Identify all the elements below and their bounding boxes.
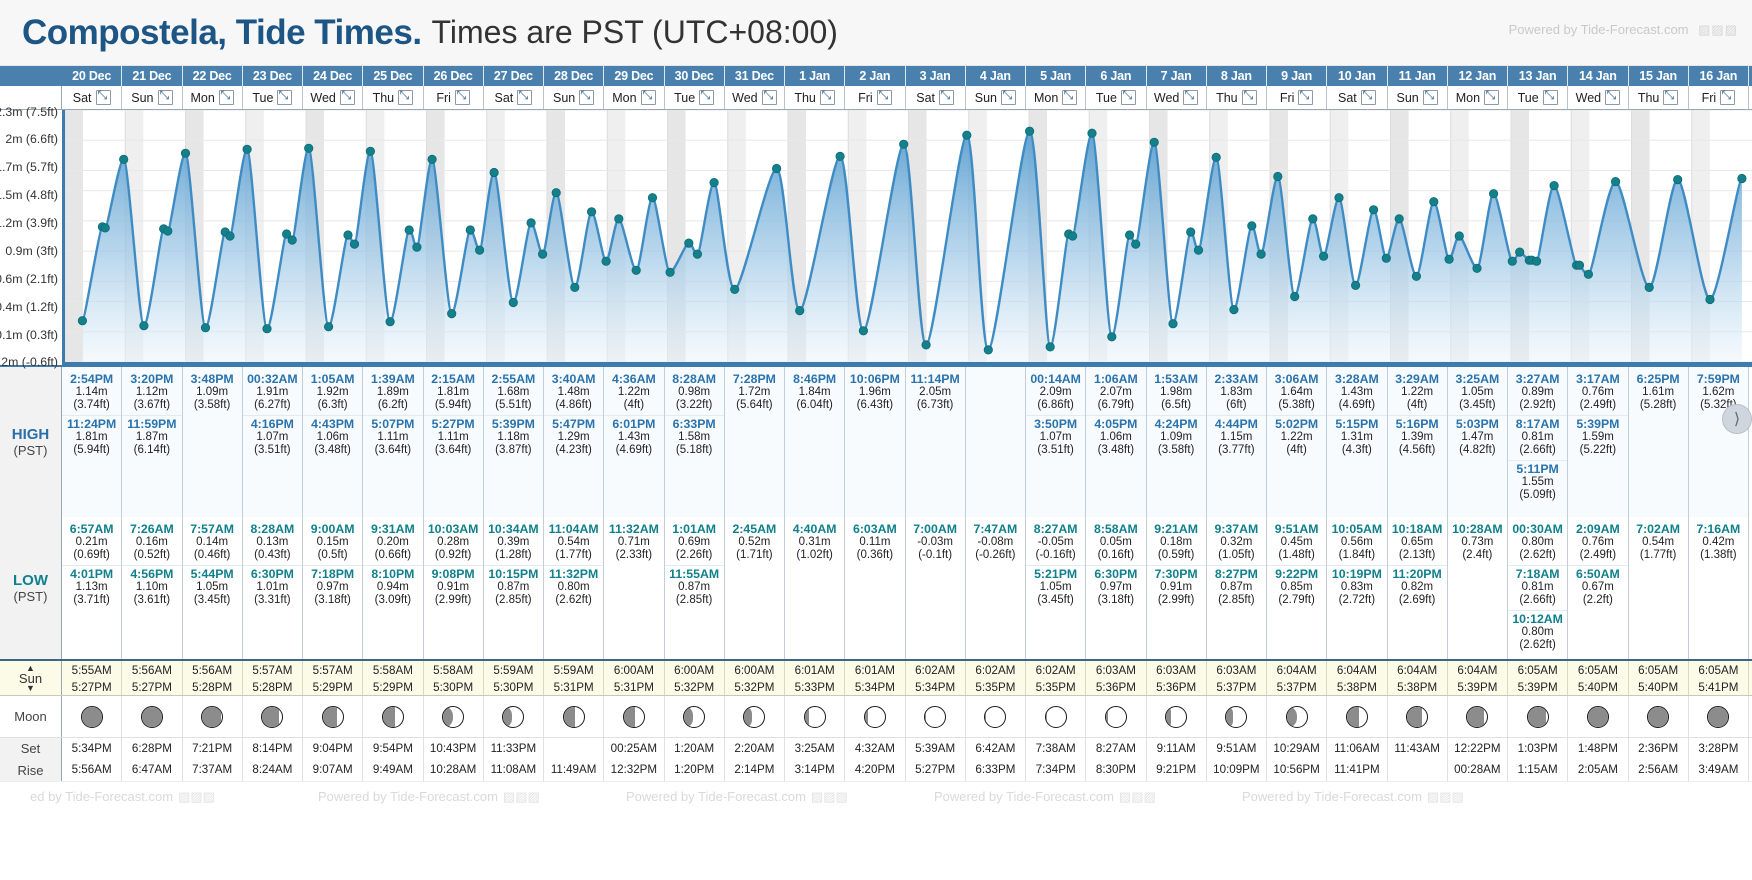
expand-icon[interactable]	[1720, 90, 1735, 105]
moonset-cell: 3:28PM	[1689, 738, 1749, 759]
expand-icon[interactable]	[277, 90, 292, 105]
tide-time: 2:45AM	[725, 522, 784, 536]
sunset-time: 5:36PM	[1147, 679, 1206, 695]
moonset-cell: 9:11AM	[1147, 738, 1207, 759]
tide-time: 11:59PM	[122, 417, 181, 431]
moon-phase-icon	[261, 706, 283, 728]
tide-extremum-marker	[164, 227, 172, 235]
high-tide-cell[interactable]: 3:17AM0.76m(2.49ft)5:39PM1.59m(5.22ft)	[1568, 367, 1628, 517]
tide-height-ft: (2.26ft)	[665, 549, 724, 562]
sunrise-time: 6:00AM	[725, 662, 784, 679]
tide-time: 6:01PM	[604, 417, 663, 431]
tide-height-ft: (5.94ft)	[62, 444, 121, 457]
weekday-header-cell[interactable]: Sun	[122, 86, 182, 109]
weekday-label: Mon	[1034, 86, 1058, 109]
tide-time: 5:21PM	[1026, 567, 1085, 581]
date-header-cell[interactable]: 1 Jan	[785, 66, 845, 86]
date-header-cell[interactable]: 28 Dec	[544, 66, 604, 86]
tide-time: 11:20PM	[1388, 567, 1447, 581]
expand-icon[interactable]	[398, 90, 413, 105]
low-tide-cell[interactable]: 2:45AM0.52m(1.71ft)	[725, 517, 785, 659]
weekday-header-cell[interactable]: Mon	[1448, 86, 1508, 109]
high-tide-cell[interactable]: 7:59PM1.62m(5.32ft)	[1689, 367, 1749, 517]
tide-extremum-marker	[772, 164, 780, 172]
high-tide-cell[interactable]: 3:48PM1.09m(3.58ft)	[183, 367, 243, 517]
date-header-cell[interactable]: 16 Jan	[1689, 66, 1749, 86]
tide-extremum-marker	[571, 283, 579, 291]
tide-height-ft: (2.62ft)	[1508, 549, 1567, 562]
tide-height-m: 0.52m	[725, 536, 784, 549]
high-tide-cell[interactable]: 3:27AM0.89m(2.92ft)8:17AM0.81m(2.66ft)5:…	[1508, 367, 1568, 517]
low-tide-cell[interactable]: 9:00AM0.15m(0.5ft)7:18PM0.97m(3.18ft)	[303, 517, 363, 659]
tide-height-ft: (4.23ft)	[544, 444, 603, 457]
expand-icon[interactable]	[1001, 90, 1016, 105]
high-tide-cell[interactable]: 3:20PM1.12m(3.67ft)11:59PM1.87m(6.14ft)	[122, 367, 182, 517]
powered-by-text: Powered by Tide-Forecast.com	[1509, 22, 1689, 37]
low-tide-cell[interactable]: 10:28AM0.73m(2.4ft)	[1448, 517, 1508, 659]
date-header-cell[interactable]: 30 Dec	[665, 66, 725, 86]
expand-icon[interactable]	[1605, 90, 1620, 105]
tide-height-ft: (0.52ft)	[122, 549, 181, 562]
high-tide-event: 4:43PM1.06m(3.48ft)	[303, 415, 362, 459]
low-tide-cell[interactable]: 7:26AM0.16m(0.52ft)4:56PM1.10m(3.61ft)	[122, 517, 182, 659]
date-header-cell[interactable]: 29 Dec	[604, 66, 664, 86]
low-tide-cell[interactable]: 9:21AM0.18m(0.59ft)7:30PM0.91m(2.99ft)	[1147, 517, 1207, 659]
tide-extremum-marker	[386, 318, 394, 326]
sun-times-cell: 6:04AM5:38PM	[1327, 661, 1387, 695]
weekday-header-cell[interactable]: Tue	[1086, 86, 1146, 109]
expand-icon[interactable]	[1543, 90, 1558, 105]
tide-extremum-marker	[1230, 305, 1238, 313]
sun-times-cell: 6:00AM5:32PM	[665, 661, 725, 695]
high-tide-cell[interactable]: 8:46PM1.84m(6.04ft)	[785, 367, 845, 517]
low-tide-cell[interactable]: 11:32AM0.71m(2.33ft)	[604, 517, 664, 659]
y-axis-label: 0.4m (1.2ft)	[0, 300, 58, 314]
tide-height-m: 0.54m	[1629, 536, 1688, 549]
tide-time: 10:15PM	[484, 567, 543, 581]
tide-time: 6:33PM	[665, 417, 724, 431]
tide-time: 7:28PM	[725, 372, 784, 386]
tide-extremum-marker	[243, 145, 251, 153]
expand-icon[interactable]	[1298, 90, 1313, 105]
weekday-header-cell[interactable]: Sun	[966, 86, 1026, 109]
date-header-cell[interactable]: 11 Jan	[1388, 66, 1448, 86]
date-header-cell[interactable]: 2 Jan	[845, 66, 905, 86]
moon-phase-icon	[322, 706, 344, 728]
tide-time: 8:17AM	[1508, 417, 1567, 431]
tide-height-m: 1.98m	[1147, 386, 1206, 399]
tide-height-ft: (6.79ft)	[1086, 399, 1145, 412]
high-tide-event: 5:47PM1.29m(4.23ft)	[544, 415, 603, 459]
low-tide-cell[interactable]: 9:51AM0.45m(1.48ft)9:22PM0.85m(2.79ft)	[1267, 517, 1327, 659]
high-tide-cell[interactable]: 3:40AM1.48m(4.86ft)5:47PM1.29m(4.23ft)	[544, 367, 604, 517]
weekday-header-cell[interactable]: Thu	[363, 86, 423, 109]
high-tide-cell[interactable]: 00:14AM2.09m(6.86ft)3:50PM1.07m(3.51ft)	[1026, 367, 1086, 517]
high-tide-event: 4:05PM1.06m(3.48ft)	[1086, 415, 1145, 459]
tide-extremum-marker	[1194, 246, 1202, 254]
tide-height-m: 0.76m	[1568, 386, 1627, 399]
low-tide-cell[interactable]: 11:04AM0.54m(1.77ft)11:32PM0.80m(2.62ft)	[544, 517, 604, 659]
date-header-cell[interactable]: 8 Jan	[1207, 66, 1267, 86]
weekday-header-cell[interactable]: Fri	[1267, 86, 1327, 109]
sun-times-cell: 6:00AM5:32PM	[725, 661, 785, 695]
date-header-cell[interactable]: 21 Dec	[122, 66, 182, 86]
low-tide-cell[interactable]: 1:01AM0.69m(2.26ft)11:55AM0.87m(2.85ft)	[665, 517, 725, 659]
tide-time: 2:55AM	[484, 372, 543, 386]
tide-time: 7:18PM	[303, 567, 362, 581]
tide-time: 2:54PM	[62, 372, 121, 386]
low-tide-cell[interactable]: 9:31AM0.20m(0.66ft)8:10PM0.94m(3.09ft)	[363, 517, 423, 659]
moon-phase-icon	[623, 706, 645, 728]
expand-icon[interactable]	[641, 90, 656, 105]
high-tide-cell[interactable]: 10:06PM1.96m(6.43ft)	[845, 367, 905, 517]
tide-height-ft: (2.4ft)	[1448, 549, 1507, 562]
moon-phase-cell	[424, 696, 484, 737]
low-tide-cell[interactable]: 10:34AM0.39m(1.28ft)10:15PM0.87m(2.85ft)	[484, 517, 544, 659]
tide-extremum-marker	[201, 324, 209, 332]
tide-time: 11:24PM	[62, 417, 121, 431]
moon-row: Moon	[0, 695, 1752, 737]
tide-extremum-marker	[288, 236, 296, 244]
tide-extremum-marker	[632, 266, 640, 274]
expand-icon[interactable]	[1121, 90, 1136, 105]
weekday-header-cell[interactable]: Wed	[725, 86, 785, 109]
high-tide-event: 2:55AM1.68m(5.51ft)	[484, 371, 543, 414]
sun-times-cell: 6:04AM5:39PM	[1448, 661, 1508, 695]
high-tide-cell[interactable]: 1:53AM1.98m(6.5ft)4:24PM1.09m(3.58ft)	[1147, 367, 1207, 517]
tide-extremum-marker	[350, 240, 358, 248]
weekday-header-cell[interactable]: Wed	[303, 86, 363, 109]
tide-time: 7:57AM	[183, 522, 242, 536]
sunrise-time: 6:04AM	[1327, 662, 1386, 679]
low-tide-cell[interactable]: 7:16AM0.42m(1.38ft)	[1689, 517, 1749, 659]
expand-icon[interactable]	[699, 90, 714, 105]
watermark-text: Powered by Tide-Forecast.com	[934, 789, 1114, 804]
tide-height-m: 1.96m	[845, 386, 904, 399]
moonset-cell: 10:29AM	[1267, 738, 1327, 759]
expand-icon[interactable]	[1242, 90, 1257, 105]
weekday-header-cell[interactable]: Sat	[906, 86, 966, 109]
weekday-header-cell[interactable]: Mon	[183, 86, 243, 109]
sunrise-time: 6:05AM	[1689, 662, 1748, 679]
tide-extremum-marker	[1132, 240, 1140, 248]
moon-phase-cell	[363, 696, 423, 737]
tide-height-m: 1.81m	[62, 431, 121, 444]
moon-phase-cell	[1388, 696, 1448, 737]
sun-times-cell: 5:57AM5:29PM	[303, 661, 363, 695]
sunrise-time: 5:55AM	[62, 662, 121, 679]
date-header-cell[interactable]: 13 Jan	[1508, 66, 1568, 86]
sunset-time: 5:37PM	[1207, 679, 1266, 695]
high-tide-cell[interactable]: 3:25AM1.05m(3.45ft)5:03PM1.47m(4.82ft)	[1448, 367, 1508, 517]
expand-icon[interactable]	[1663, 90, 1678, 105]
high-tide-event: 4:36AM1.22m(4ft)	[604, 371, 663, 414]
expand-icon[interactable]	[1484, 90, 1499, 105]
high-tide-cell[interactable]	[966, 367, 1026, 517]
tide-height-m: 1.92m	[303, 386, 362, 399]
low-tide-event: 5:44PM1.05m(3.45ft)	[183, 565, 242, 609]
weekday-header-cell[interactable]: Sun	[544, 86, 604, 109]
scroll-right-handle[interactable]: ⟩	[1722, 404, 1752, 434]
low-tide-cell[interactable]: 7:57AM0.14m(0.46ft)5:44PM1.05m(3.45ft)	[183, 517, 243, 659]
tide-time: 1:05AM	[303, 372, 362, 386]
tide-height-ft: (5.22ft)	[1568, 444, 1627, 457]
low-tide-cell[interactable]: 6:57AM0.21m(0.69ft)4:01PM1.13m(3.71ft)	[62, 517, 122, 659]
weekday-header-cell[interactable]: Tue	[243, 86, 303, 109]
low-tide-cell[interactable]: 8:28AM0.13m(0.43ft)6:30PM1.01m(3.31ft)	[243, 517, 303, 659]
expand-icon[interactable]	[517, 90, 532, 105]
sun-times-cell: 5:56AM5:28PM	[183, 661, 243, 695]
tide-time: 1:01AM	[665, 522, 724, 536]
moonrise-cell: 5:27PM	[906, 759, 966, 781]
high-tide-cell[interactable]: 11:14PM2.05m(6.73ft)	[906, 367, 966, 517]
moon-phase-icon	[141, 706, 163, 728]
date-header-cell[interactable]: 24 Dec	[303, 66, 363, 86]
tide-extremum-marker	[1584, 270, 1592, 278]
date-header-cell[interactable]: 7 Jan	[1147, 66, 1207, 86]
tide-height-ft: (3.48ft)	[1086, 444, 1145, 457]
tide-height-m: 1.18m	[484, 431, 543, 444]
tide-height-ft: (2.66ft)	[1508, 444, 1567, 457]
tide-time: 11:32AM	[604, 522, 663, 536]
moonrise-cell: 10:09PM	[1207, 759, 1267, 781]
low-tide-cell[interactable]: 6:03AM0.11m(0.36ft)	[845, 517, 905, 659]
moon-phase-cell	[665, 696, 725, 737]
date-header-cell[interactable]: 3 Jan	[906, 66, 966, 86]
tide-extremum-marker	[900, 140, 908, 148]
weekday-label: Mon	[190, 86, 214, 109]
tide-time: 9:31AM	[363, 522, 422, 536]
tide-height-m: 1.05m	[1026, 581, 1085, 594]
low-tide-event: 9:00AM0.15m(0.5ft)	[303, 521, 362, 564]
sunset-time: 5:39PM	[1508, 679, 1567, 695]
tide-time: 7:59PM	[1689, 372, 1748, 386]
weekday-label: Fri	[436, 86, 451, 109]
high-tide-cell[interactable]: 7:28PM1.72m(5.64ft)	[725, 367, 785, 517]
weekday-header-cell[interactable]: Wed	[1147, 86, 1207, 109]
low-tide-cell[interactable]: 00:30AM0.80m(2.62ft)7:18AM0.81m(2.66ft)1…	[1508, 517, 1568, 659]
tide-height-m: 1.15m	[1207, 431, 1266, 444]
expand-icon[interactable]	[877, 90, 892, 105]
low-tide-cell[interactable]: 10:03AM0.28m(0.92ft)9:08PM0.91m(2.99ft)	[424, 517, 484, 659]
high-tide-cell[interactable]: 3:06AM1.64m(5.38ft)5:02PM1.22m(4ft)	[1267, 367, 1327, 517]
high-tide-event: 3:17AM0.76m(2.49ft)	[1568, 371, 1627, 414]
low-tide-cell[interactable]: 10:18AM0.65m(2.13ft)11:20PM0.82m(2.69ft)	[1388, 517, 1448, 659]
high-tide-cell[interactable]: 2:55AM1.68m(5.51ft)5:39PM1.18m(3.87ft)	[484, 367, 544, 517]
tide-time: 2:09AM	[1568, 522, 1627, 536]
moonrise-row: Rise 5:56AM6:47AM7:37AM8:24AM9:07AM9:49A…	[0, 759, 1752, 781]
expand-icon[interactable]	[939, 90, 954, 105]
expand-icon[interactable]	[219, 90, 234, 105]
low-tide-row: LOW (PST) 6:57AM0.21m(0.69ft)4:01PM1.13m…	[0, 517, 1752, 659]
weekday-header-cell[interactable]: Fri	[1689, 86, 1749, 109]
y-axis-label: 0.2m (-0.6ft)	[0, 355, 58, 369]
high-tide-cell[interactable]: 2:15AM1.81m(5.94ft)5:27PM1.11m(3.64ft)	[424, 367, 484, 517]
high-tide-cell[interactable]: 3:28AM1.43m(4.69ft)5:15PM1.31m(4.3ft)	[1327, 367, 1387, 517]
high-tide-cell[interactable]: 3:29AM1.22m(4ft)5:16PM1.39m(4.56ft)	[1388, 367, 1448, 517]
tide-height-m: 1.05m	[1448, 386, 1507, 399]
high-tide-event: 2:54PM1.14m(3.74ft)	[62, 371, 121, 414]
low-tide-cell[interactable]: 8:58AM0.05m(0.16ft)6:30PM0.97m(3.18ft)	[1086, 517, 1146, 659]
tide-height-m: 1.84m	[785, 386, 844, 399]
tide-height-ft: (6.86ft)	[1026, 399, 1085, 412]
tide-time: 11:32PM	[544, 567, 603, 581]
expand-icon[interactable]	[340, 90, 355, 105]
tide-height-ft: (3.58ft)	[183, 399, 242, 412]
date-header-row: 20 Dec21 Dec22 Dec23 Dec24 Dec25 Dec26 D…	[0, 66, 1752, 86]
moonrise-cell: 2:14PM	[725, 759, 785, 781]
sunset-time: 5:30PM	[484, 679, 543, 695]
date-header-cell[interactable]: 4 Jan	[966, 66, 1026, 86]
tide-time: 5:39PM	[484, 417, 543, 431]
low-tide-cell[interactable]: 8:27AM-0.05m(-0.16ft)5:21PM1.05m(3.45ft)	[1026, 517, 1086, 659]
high-tide-cell[interactable]: 2:33AM1.83m(6ft)4:44PM1.15m(3.77ft)	[1207, 367, 1267, 517]
tide-extremum-marker	[922, 341, 930, 349]
tide-chart-plot[interactable]	[62, 110, 1752, 365]
weekday-header-cell[interactable]: Fri	[424, 86, 484, 109]
weekday-header-cell[interactable]: Sat	[62, 86, 122, 109]
expand-icon[interactable]	[455, 90, 470, 105]
date-header-cell[interactable]: 20 Dec	[62, 66, 122, 86]
low-tide-event: 4:40AM0.31m(1.02ft)	[785, 521, 844, 564]
weekday-header-cell[interactable]: Fri	[845, 86, 905, 109]
date-header-cell[interactable]: 12 Jan	[1448, 66, 1508, 86]
weekday-header-cell[interactable]: Tue	[665, 86, 725, 109]
moonset-cell: 2:20AM	[725, 738, 785, 759]
weekday-header-cell[interactable]: Sun	[1388, 86, 1448, 109]
sunset-time: 5:31PM	[544, 679, 603, 695]
tide-time: 2:33AM	[1207, 372, 1266, 386]
tide-time: 6:30PM	[1086, 567, 1145, 581]
tide-time: 10:12AM	[1508, 612, 1567, 626]
moonset-cell: 2:36PM	[1629, 738, 1689, 759]
low-tide-cell[interactable]: 7:47AM-0.08m(-0.26ft)	[966, 517, 1026, 659]
expand-icon[interactable]	[579, 90, 594, 105]
weekday-label: Sun	[975, 86, 997, 109]
date-header-cell[interactable]: 22 Dec	[183, 66, 243, 86]
moonrise-cell: 8:24AM	[243, 759, 303, 781]
low-tide-cell[interactable]: 4:40AM0.31m(1.02ft)	[785, 517, 845, 659]
date-header-cell[interactable]: 9 Jan	[1267, 66, 1327, 86]
weekday-header-cell[interactable]: Thu	[785, 86, 845, 109]
moon-phase-cell	[1568, 696, 1628, 737]
tide-extremum-marker	[1125, 231, 1133, 239]
date-header-cell[interactable]: 31 Dec	[725, 66, 785, 86]
date-header-cell[interactable]: 14 Jan	[1568, 66, 1628, 86]
sunrise-time: 5:57AM	[303, 662, 362, 679]
sunrise-time: 6:05AM	[1508, 662, 1567, 679]
date-header-cell[interactable]: 23 Dec	[243, 66, 303, 86]
moonrise-cell: 8:30PM	[1086, 759, 1146, 781]
y-axis-label: 1.2m (3.9ft)	[0, 216, 58, 230]
tide-height-ft: (2.85ft)	[1207, 594, 1266, 607]
high-tide-cell[interactable]: 1:05AM1.92m(6.3ft)4:43PM1.06m(3.48ft)	[303, 367, 363, 517]
expand-icon[interactable]	[762, 90, 777, 105]
tide-extremum-marker	[226, 232, 234, 240]
low-tide-cell[interactable]: 9:37AM0.32m(1.05ft)8:27PM0.87m(2.85ft)	[1207, 517, 1267, 659]
high-tide-cell[interactable]: 1:06AM2.07m(6.79ft)4:05PM1.06m(3.48ft)	[1086, 367, 1146, 517]
weekday-header-cell[interactable]: Mon	[604, 86, 664, 109]
moon-phase-icon	[442, 706, 464, 728]
tide-height-ft: (6.5ft)	[1147, 399, 1206, 412]
weekday-header-cell[interactable]: Wed	[1568, 86, 1628, 109]
expand-icon[interactable]	[1183, 90, 1198, 105]
high-tide-cell[interactable]: 2:54PM1.14m(3.74ft)11:24PM1.81m(5.94ft)	[62, 367, 122, 517]
weekday-header-cell[interactable]: Thu	[1629, 86, 1689, 109]
high-tide-cell[interactable]: 1:39AM1.89m(6.2ft)5:07PM1.11m(3.64ft)	[363, 367, 423, 517]
moonset-cell: 12:22PM	[1448, 738, 1508, 759]
expand-icon[interactable]	[1062, 90, 1077, 105]
date-header-cell[interactable]: 26 Dec	[424, 66, 484, 86]
expand-icon[interactable]	[820, 90, 835, 105]
low-tide-event: 7:18AM0.81m(2.66ft)	[1508, 565, 1567, 609]
expand-icon[interactable]	[158, 90, 173, 105]
tide-height-m: 1.05m	[183, 581, 242, 594]
low-tide-cell[interactable]: 7:02AM0.54m(1.77ft)	[1629, 517, 1689, 659]
tide-height-m: 1.43m	[604, 431, 663, 444]
high-tide-event: 3:20PM1.12m(3.67ft)	[122, 371, 181, 414]
weekday-header-cell[interactable]: Mon	[1026, 86, 1086, 109]
date-header-cell[interactable]: 5 Jan	[1026, 66, 1086, 86]
moon-phase-cell	[243, 696, 303, 737]
weekday-header-cell[interactable]: Thu	[1207, 86, 1267, 109]
tide-height-ft: (3.18ft)	[303, 594, 362, 607]
tide-height-m: 0.91m	[424, 581, 483, 594]
tide-height-ft: (-0.26ft)	[966, 549, 1025, 562]
weekday-header-cell[interactable]: Tue	[1508, 86, 1568, 109]
high-tide-cell[interactable]: 4:36AM1.22m(4ft)6:01PM1.43m(4.69ft)	[604, 367, 664, 517]
weekday-header-cell[interactable]: Sat	[1327, 86, 1387, 109]
tide-height-ft: (2.69ft)	[1388, 594, 1447, 607]
low-tide-cell[interactable]: 2:09AM0.76m(2.49ft)6:50AM0.67m(2.2ft)	[1568, 517, 1628, 659]
low-tide-cell[interactable]: 7:00AM-0.03m(-0.1ft)	[906, 517, 966, 659]
tide-extremum-marker	[1335, 194, 1343, 202]
weekday-header-cell[interactable]: Sat	[484, 86, 544, 109]
tide-height-m: 0.32m	[1207, 536, 1266, 549]
tide-extremum-marker	[78, 317, 86, 325]
date-header-cell[interactable]: 10 Jan	[1327, 66, 1387, 86]
sun-times-cell: 5:58AM5:29PM	[363, 661, 423, 695]
expand-icon[interactable]	[1423, 90, 1438, 105]
date-header-cell[interactable]: 25 Dec	[363, 66, 423, 86]
tide-time: 10:34AM	[484, 522, 543, 536]
low-tide-cell[interactable]: 10:05AM0.56m(1.84ft)10:19PM0.83m(2.72ft)	[1327, 517, 1387, 659]
date-header-cell[interactable]: 15 Jan	[1629, 66, 1689, 86]
tide-height-m: 0.85m	[1267, 581, 1326, 594]
tide-extremum-marker	[428, 155, 436, 163]
moon-phase-cell	[906, 696, 966, 737]
tide-height-ft: (2.99ft)	[1147, 594, 1206, 607]
tide-extremum-marker	[984, 346, 992, 354]
high-tide-cell[interactable]: 8:28AM0.98m(3.22ft)6:33PM1.58m(5.18ft)	[665, 367, 725, 517]
sun-times-cell: 6:04AM5:38PM	[1388, 661, 1448, 695]
weekday-label: Thu	[373, 86, 395, 109]
tide-height-ft: (4.69ft)	[1327, 399, 1386, 412]
tide-time: 5:15PM	[1327, 417, 1386, 431]
date-header-cell[interactable]: 27 Dec	[484, 66, 544, 86]
tide-height-ft: (3.51ft)	[1026, 444, 1085, 457]
moon-phase-cell	[1147, 696, 1207, 737]
high-tide-cell[interactable]: 6:25PM1.61m(5.28ft)	[1629, 367, 1689, 517]
high-tide-cell[interactable]: 00:32AM1.91m(6.27ft)4:16PM1.07m(3.51ft)	[243, 367, 303, 517]
date-header-cell[interactable]: 6 Jan	[1086, 66, 1146, 86]
high-tide-event: 1:39AM1.89m(6.2ft)	[363, 371, 422, 414]
tide-height-m: 0.13m	[243, 536, 302, 549]
expand-icon[interactable]	[96, 90, 111, 105]
sunset-time: 5:35PM	[966, 679, 1025, 695]
expand-icon[interactable]	[1361, 90, 1376, 105]
tide-height-ft: (3.74ft)	[62, 399, 121, 412]
